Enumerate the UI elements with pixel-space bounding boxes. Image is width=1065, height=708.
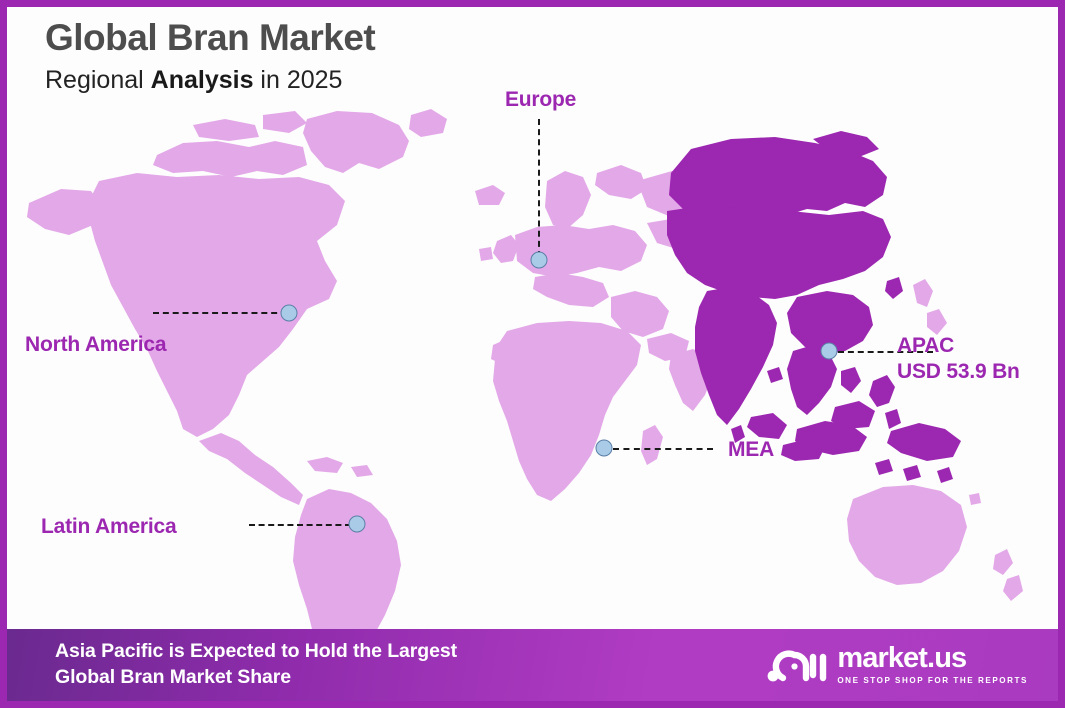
region-value-apac: USD 53.9 Bn (897, 359, 1020, 385)
infographic-container: Global Bran Market Regional Analysis in … (0, 0, 1065, 708)
page-title: Global Bran Market (45, 17, 375, 60)
market-us-logo-mark-icon (766, 645, 828, 685)
leader-line-europe (538, 119, 540, 257)
region-label-europe-text: Europe (505, 88, 576, 111)
footer-headline-line1: Asia Pacific is Expected to Hold the Lar… (55, 639, 457, 665)
footer-headline: Asia Pacific is Expected to Hold the Lar… (55, 639, 457, 691)
market-us-logo[interactable]: market.us ONE STOP SHOP FOR THE REPORTS (766, 644, 1028, 685)
map-marker-mea[interactable] (596, 440, 613, 457)
region-label-mea[interactable]: MEA (728, 437, 774, 463)
map-marker-europe[interactable] (531, 252, 548, 269)
subtitle-prefix: Regional (45, 66, 151, 94)
footer-headline-line2: Global Bran Market Share (55, 665, 457, 691)
leader-line-mea (613, 448, 713, 450)
region-label-apac-text: APAC (897, 333, 1020, 359)
logo-brand-name: market.us (837, 644, 1028, 673)
region-label-latin-america-text: Latin America (41, 515, 177, 538)
map-marker-apac[interactable] (821, 343, 838, 360)
subtitle-emphasis: Analysis (151, 66, 254, 94)
header: Global Bran Market Regional Analysis in … (45, 17, 375, 94)
region-label-north-america-text: North America (25, 333, 166, 356)
logo-tagline: ONE STOP SHOP FOR THE REPORTS (837, 677, 1028, 685)
region-label-north-america[interactable]: North America (25, 332, 166, 358)
region-label-apac[interactable]: APAC USD 53.9 Bn (897, 333, 1020, 384)
map-marker-latin-america[interactable] (349, 516, 366, 533)
region-label-europe[interactable]: Europe (505, 87, 576, 113)
subtitle-suffix: in 2025 (253, 66, 342, 94)
footer-banner: Asia Pacific is Expected to Hold the Lar… (7, 629, 1058, 701)
market-us-logo-text: market.us ONE STOP SHOP FOR THE REPORTS (837, 644, 1028, 685)
region-label-mea-text: MEA (728, 438, 774, 461)
region-label-latin-america[interactable]: Latin America (41, 514, 177, 540)
map-marker-north-america[interactable] (281, 305, 298, 322)
page-subtitle: Regional Analysis in 2025 (45, 66, 375, 95)
leader-line-north-america (153, 312, 287, 314)
annotation-layer: Europe North America APAC USD 53.9 Bn ME… (7, 7, 1058, 701)
leader-line-latin-america (249, 524, 351, 526)
